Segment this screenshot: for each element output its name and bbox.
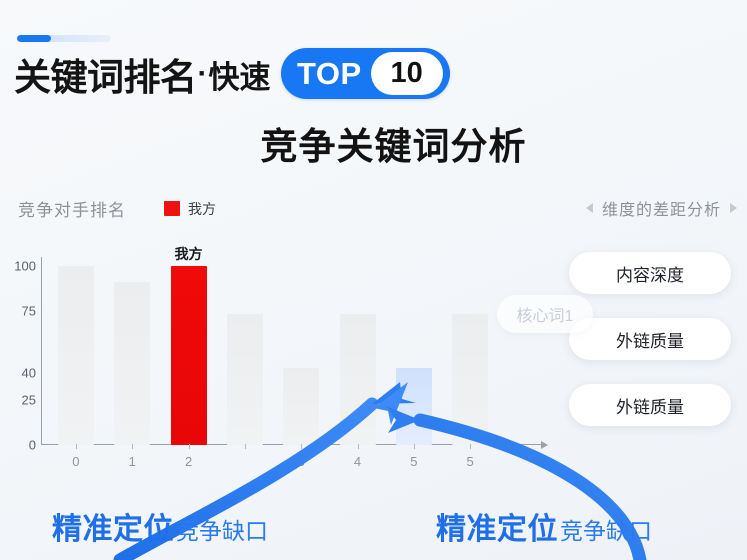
x-axis-tick — [414, 444, 415, 449]
x-axis-tick — [301, 444, 302, 449]
x-axis-tick-label: 5 — [467, 454, 474, 469]
triangle-left-icon — [586, 203, 593, 213]
y-axis-tick-label: 40 — [22, 366, 36, 381]
dimension-pill-list: 内容深度 外链质量 外链质量 — [569, 252, 731, 450]
x-axis-tick — [76, 444, 77, 449]
x-axis-tick — [189, 444, 190, 449]
caption-left-emphasis: 精准定位 — [52, 504, 174, 548]
top-badge-label: TOP — [297, 56, 362, 92]
legend-swatch-icon — [164, 201, 180, 216]
bar-highlight-label: 我方 — [175, 244, 203, 264]
list-item[interactable]: 外链质量 — [569, 384, 731, 426]
legend-axis-title: 竞争对手排名 — [18, 196, 126, 221]
bar — [58, 266, 94, 445]
bar — [452, 314, 488, 445]
y-axis-tick-label: 0 — [29, 438, 36, 453]
legend-item-label: 我方 — [188, 199, 216, 219]
page-title: 竞争关键词分析 — [0, 116, 747, 170]
top-rank-badge: TOP 10 — [281, 48, 450, 99]
caption-right-emphasis: 精准定位 — [436, 504, 558, 548]
list-item[interactable]: 外链质量 — [569, 318, 731, 360]
x-axis-tick — [132, 444, 133, 449]
slide-canvas: 关键词排名 · 快速 TOP 10 竞争关键词分析 竞争对手排名 我方 维度的差… — [0, 0, 747, 560]
plot-area: 我方 — [41, 257, 531, 445]
progress-bar — [17, 35, 111, 42]
headline: 关键词排名 · 快速 — [14, 46, 271, 102]
headline-sub-text: 快速 — [209, 52, 271, 97]
x-axis-tick-label: 3 — [298, 454, 305, 469]
caption-right-rest: 竞争缺口 — [560, 512, 652, 546]
y-axis-labels: 0254075100 — [0, 245, 36, 435]
x-axis-tick — [470, 444, 471, 449]
x-axis-tick — [358, 444, 359, 449]
bar-chart: 0254075100 我方 0123455 — [0, 245, 560, 475]
page-title-text: 竞争关键词分析 — [221, 126, 527, 167]
x-axis-tick-label: 4 — [354, 454, 361, 469]
bar — [340, 314, 376, 445]
bar — [283, 368, 319, 445]
caption-left-rest: 竞争缺口 — [176, 512, 268, 546]
caption-left: 精准定位 竞争缺口 — [52, 504, 268, 548]
progress-bar-fill — [17, 35, 51, 42]
y-axis-tick-label: 75 — [22, 303, 36, 318]
x-axis-tick-label: 2 — [185, 454, 192, 469]
x-axis-arrow-icon — [541, 441, 548, 449]
y-axis-tick-label: 25 — [22, 393, 36, 408]
bar — [227, 314, 263, 445]
chart-legend: 竞争对手排名 我方 — [18, 196, 216, 221]
top-badge-number: 10 — [371, 52, 443, 95]
y-axis-tick-label: 100 — [14, 258, 36, 273]
right-panel-heading: 维度的差距分析 — [586, 196, 737, 220]
x-axis-tick — [245, 444, 246, 449]
x-axis-tick-label: 1 — [129, 454, 136, 469]
headline-main-text: 关键词排名 — [14, 47, 197, 101]
caption-right: 精准定位 竞争缺口 — [436, 504, 652, 548]
headline-separator-dot: · — [197, 57, 209, 91]
legend-item-mine: 我方 — [164, 199, 216, 219]
right-panel-heading-text: 维度的差距分析 — [593, 196, 730, 220]
triangle-right-icon — [730, 203, 737, 213]
x-axis-tick-label: 5 — [410, 454, 417, 469]
list-item[interactable]: 内容深度 — [569, 252, 731, 294]
bar — [396, 368, 432, 445]
bar — [171, 266, 207, 445]
bar — [114, 282, 150, 445]
x-axis-tick-label: 0 — [72, 454, 79, 469]
